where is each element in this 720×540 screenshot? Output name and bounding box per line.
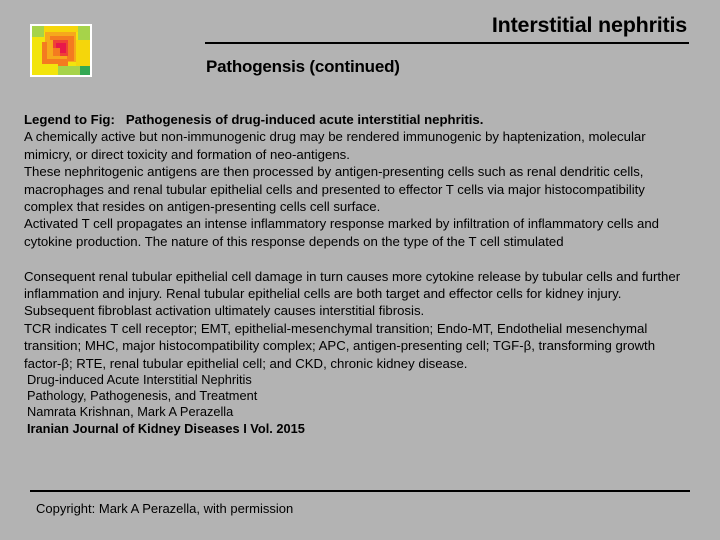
citation-subtitle: Pathology, Pathogenesis, and Treatment — [27, 388, 305, 404]
citation-journal: Iranian Journal of Kidney Diseases I Vol… — [27, 421, 305, 437]
page-title: Interstitial nephritis — [492, 12, 687, 38]
legend-paragraph: Consequent renal tubular epithelial cell… — [24, 268, 694, 320]
heatmap-logo-icon — [30, 24, 92, 77]
footer-copyright: Copyright: Mark A Perazella, with permis… — [36, 500, 293, 517]
footer-divider — [30, 490, 690, 492]
slide-canvas: Interstitial nephritis Pathogensis (cont… — [0, 0, 720, 540]
legend-lead-text: Pathogenesis of drug-induced acute inter… — [126, 112, 484, 127]
legend-lead: Legend to Fig: Pathogenesis of drug-indu… — [24, 111, 694, 128]
legend-paragraph: Activated T cell propagates an intense i… — [24, 215, 694, 250]
legend-paragraph: These nephritogenic antigens are then pr… — [24, 163, 694, 215]
citation-block: Drug-induced Acute Interstitial Nephriti… — [27, 372, 305, 437]
page-subtitle: Pathogensis (continued) — [206, 56, 400, 78]
header-divider — [205, 42, 689, 44]
citation-authors: Namrata Krishnan, Mark A Perazella — [27, 404, 305, 420]
legend-paragraph: A chemically active but non-immunogenic … — [24, 128, 694, 163]
legend-paragraph: TCR indicates T cell receptor; EMT, epit… — [24, 320, 694, 372]
citation-title: Drug-induced Acute Interstitial Nephriti… — [27, 372, 305, 388]
legend-lead-label: Legend to Fig: — [24, 112, 115, 127]
heatmap-logo-svg — [32, 26, 90, 75]
legend-body: Legend to Fig: Pathogenesis of drug-indu… — [24, 111, 694, 372]
